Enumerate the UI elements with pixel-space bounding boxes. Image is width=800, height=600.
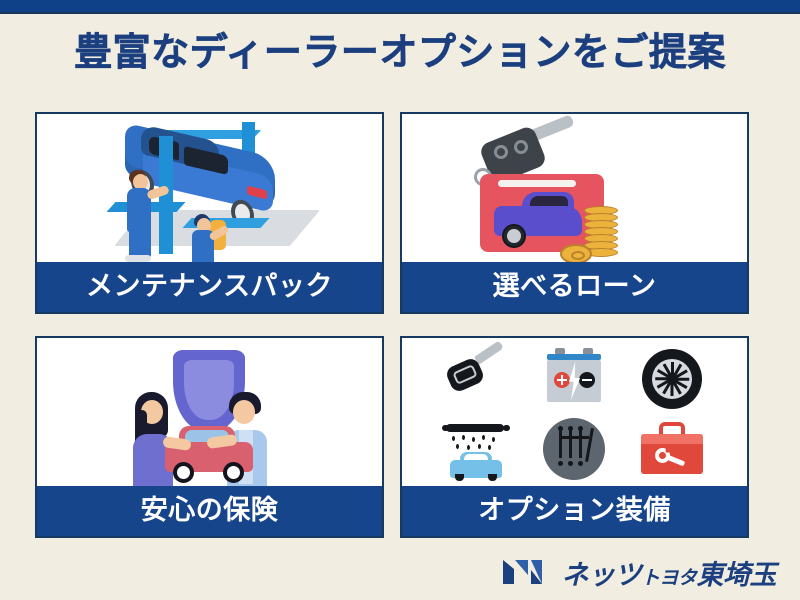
option-card-equipment[interactable]: オプション装備 bbox=[400, 336, 749, 538]
page-title: 豊富なディーラーオプションをご提案 bbox=[0, 30, 800, 76]
mechanic-one-leg bbox=[129, 228, 151, 258]
footer-logo: ネッツ トヨタ 東埼玉 bbox=[0, 549, 800, 595]
car-wash-icon bbox=[438, 414, 516, 484]
option-card-label-loan: 選べるローン bbox=[402, 262, 747, 312]
key-fob-icon bbox=[438, 344, 516, 414]
insurance-car-rear-wheel bbox=[223, 462, 244, 483]
loan-illustration bbox=[402, 114, 747, 262]
person-man-head bbox=[233, 400, 255, 424]
option-card-label-maintenance: メンテナンスパック bbox=[37, 262, 382, 312]
toolbox-icon bbox=[633, 414, 711, 484]
battery-icon bbox=[535, 344, 613, 414]
equipment-illustration bbox=[402, 338, 747, 486]
option-card-grid: メンテナンスパック bbox=[35, 112, 749, 515]
option-card-label-insurance: 安心の保険 bbox=[37, 486, 382, 536]
option-card-maintenance[interactable]: メンテナンスパック bbox=[35, 112, 384, 314]
promo-banner: 豊富なディーラーオプションをご提案 bbox=[0, 0, 800, 600]
top-accent-bar bbox=[0, 0, 800, 14]
brand-name-part2: トヨタ bbox=[641, 563, 697, 590]
netz-n-mark-icon bbox=[503, 558, 549, 586]
option-card-label-equipment: オプション装備 bbox=[402, 486, 747, 536]
option-card-insurance[interactable]: 安心の保険 bbox=[35, 336, 384, 538]
insurance-illustration bbox=[37, 338, 382, 486]
tire-icon bbox=[633, 344, 711, 414]
loan-card-stripe bbox=[498, 180, 576, 187]
mechanic-one-shoe bbox=[125, 255, 151, 262]
loan-car-wheel-hub bbox=[507, 229, 521, 243]
option-card-loan[interactable]: 選べるローン bbox=[400, 112, 749, 314]
maintenance-illustration bbox=[37, 114, 382, 262]
insurance-car-front-wheel bbox=[173, 462, 194, 483]
gear-shift-icon bbox=[535, 414, 613, 484]
brand-name-part3: 東埼玉 bbox=[697, 553, 777, 592]
brand-name-part1: ネッツ bbox=[561, 553, 641, 592]
brand-name: ネッツ トヨタ 東埼玉 bbox=[561, 553, 776, 592]
single-coin bbox=[560, 244, 592, 262]
